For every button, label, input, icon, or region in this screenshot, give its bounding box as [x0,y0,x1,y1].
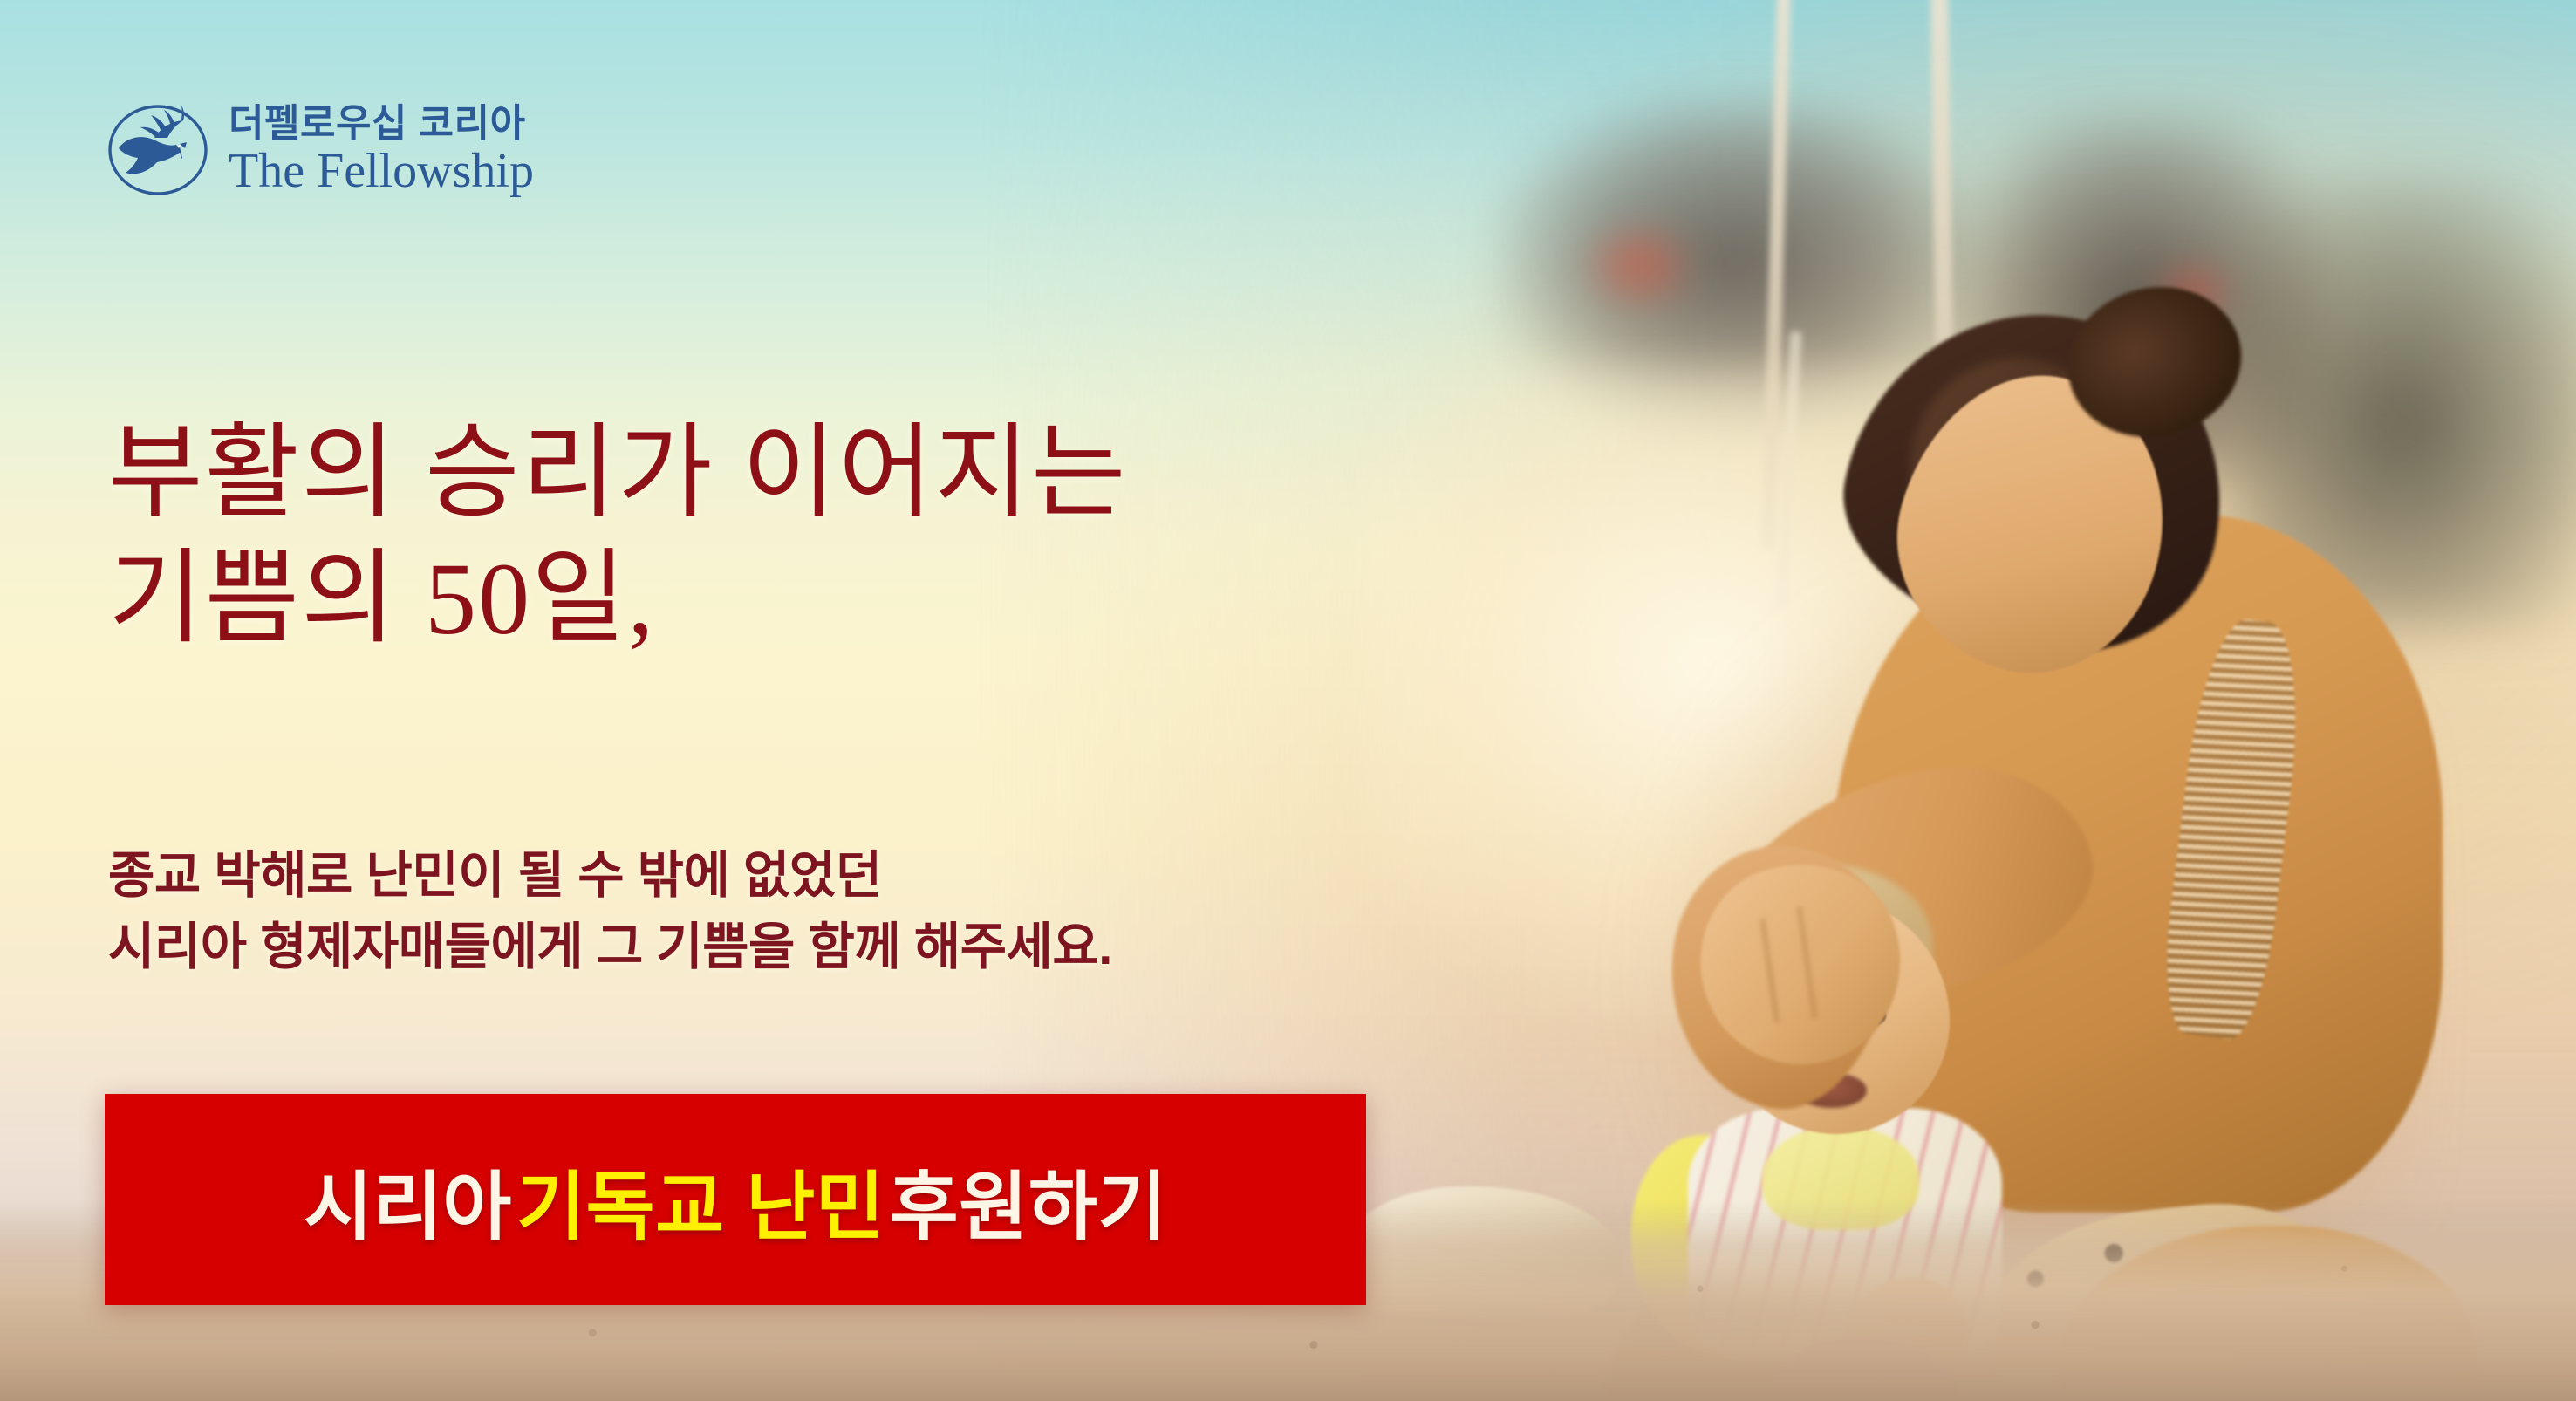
subheading-line-1: 종교 박해로 난민이 될 수 밖에 없었던 [108,840,1112,912]
banner-content: 더펠로우십 코리아 The Fellowship 부활의 승리가 이어지는 기쁨… [0,0,2576,1401]
headline-line-1: 부활의 승리가 이어지는 [108,411,1128,536]
cta-segment-sponsor: 후원하기 [890,1145,1167,1254]
brand-name-english: The Fellowship [229,147,534,195]
cta-segment-christian-refugees: 기독교 난민 [516,1145,885,1254]
subheading-line-2: 시리아 형제자매들에게 그 기쁨을 함께 해주세요. [108,912,1112,983]
cta-segment-syria: 시리아 [304,1145,512,1254]
headline: 부활의 승리가 이어지는 기쁨의 50일, [108,411,1128,662]
headline-line-2: 기쁨의 50일, [108,536,1128,662]
dove-olive-branch-icon [106,103,209,197]
donate-cta-button[interactable]: 시리아 기독교 난민 후원하기 [105,1094,1366,1305]
brand-logo[interactable]: 더펠로우십 코리아 The Fellowship [106,103,534,197]
brand-name-korean: 더펠로우십 코리아 [229,105,534,143]
brand-wordmark: 더펠로우십 코리아 The Fellowship [229,105,534,195]
campaign-banner: 더펠로우십 코리아 The Fellowship 부활의 승리가 이어지는 기쁨… [0,0,2576,1401]
subheading: 종교 박해로 난민이 될 수 밖에 없었던 시리아 형제자매들에게 그 기쁨을 … [108,840,1112,984]
